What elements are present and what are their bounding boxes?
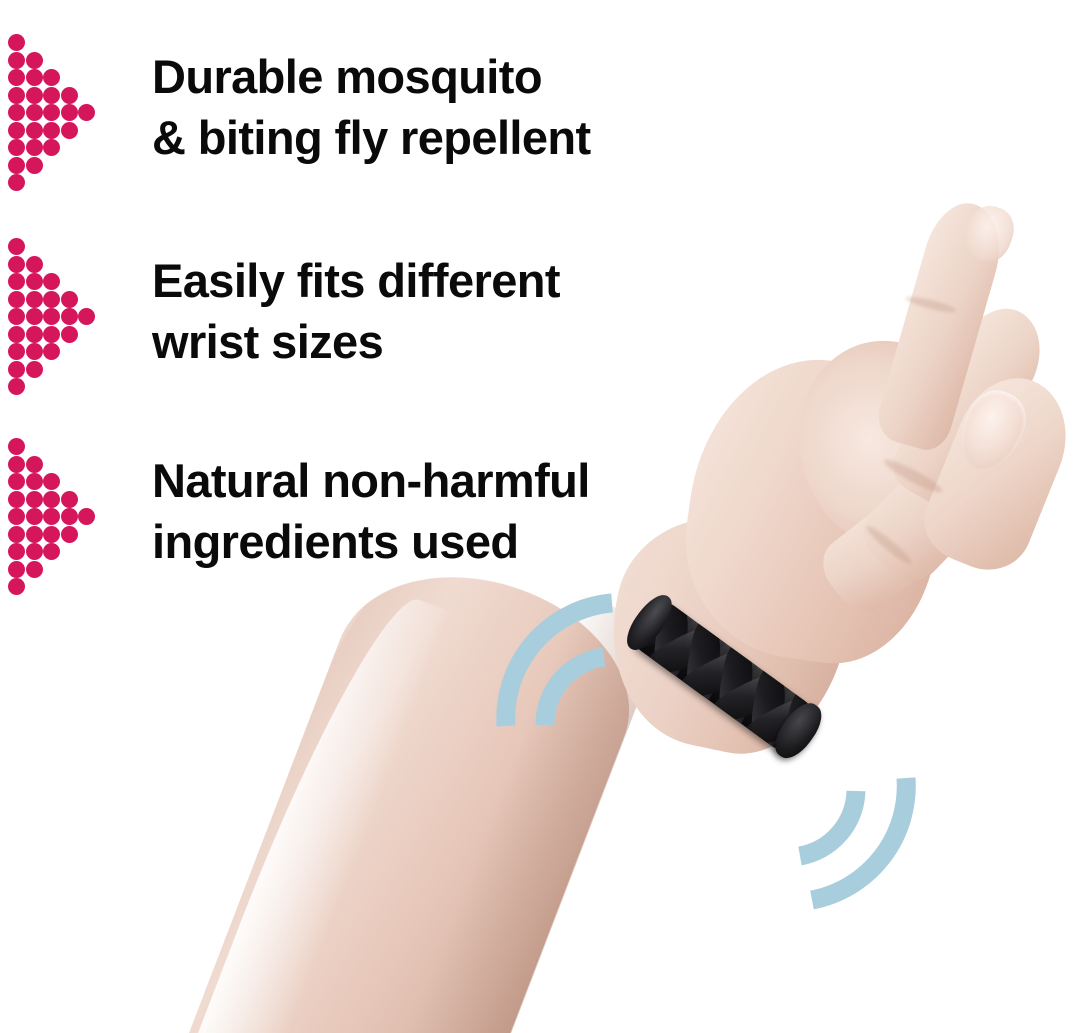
icon-dot bbox=[26, 122, 43, 139]
feature-text: Natural non-harmful ingredients used bbox=[152, 438, 590, 572]
triangle-dot-arrow-icon bbox=[8, 438, 126, 598]
icon-dot bbox=[43, 69, 60, 86]
icon-dot bbox=[61, 291, 78, 308]
icon-dot bbox=[43, 473, 60, 490]
icon-dot bbox=[8, 308, 25, 325]
feature-text: Easily fits different wrist sizes bbox=[152, 238, 560, 372]
icon-dot bbox=[8, 157, 25, 174]
icon-dot bbox=[8, 174, 25, 191]
icon-dot bbox=[26, 473, 43, 490]
icon-dot bbox=[78, 308, 95, 325]
icon-dot bbox=[43, 273, 60, 290]
icon-dot bbox=[8, 526, 25, 543]
icon-dot bbox=[43, 543, 60, 560]
feature-text: Durable mosquito & biting fly repellent bbox=[152, 34, 591, 168]
icon-dot bbox=[61, 308, 78, 325]
icon-dot bbox=[8, 561, 25, 578]
icon-dot bbox=[8, 34, 25, 51]
icon-dot bbox=[43, 508, 60, 525]
feature-item: Durable mosquito & biting fly repellent bbox=[8, 34, 591, 194]
icon-dot bbox=[43, 87, 60, 104]
icon-dot bbox=[8, 491, 25, 508]
icon-dot bbox=[61, 87, 78, 104]
icon-dot bbox=[8, 326, 25, 343]
icon-dot bbox=[43, 308, 60, 325]
icon-dot bbox=[8, 343, 25, 360]
icon-dot bbox=[26, 508, 43, 525]
icon-dot bbox=[43, 139, 60, 156]
icon-dot bbox=[61, 526, 78, 543]
icon-dot bbox=[26, 87, 43, 104]
icon-dot bbox=[61, 104, 78, 121]
icon-dot bbox=[26, 69, 43, 86]
icon-dot bbox=[26, 273, 43, 290]
triangle-dot-arrow-icon bbox=[8, 238, 126, 398]
icon-dot bbox=[8, 578, 25, 595]
icon-dot bbox=[8, 122, 25, 139]
icon-dot bbox=[8, 438, 25, 455]
icon-dot bbox=[43, 291, 60, 308]
icon-dot bbox=[26, 343, 43, 360]
icon-dot bbox=[78, 508, 95, 525]
icon-dot bbox=[26, 291, 43, 308]
icon-dot bbox=[8, 69, 25, 86]
feature-item: Easily fits different wrist sizes bbox=[8, 238, 560, 398]
icon-dot bbox=[26, 561, 43, 578]
icon-dot bbox=[61, 122, 78, 139]
icon-dot bbox=[43, 104, 60, 121]
icon-dot bbox=[61, 326, 78, 343]
icon-dot bbox=[78, 104, 95, 121]
icon-dot bbox=[8, 378, 25, 395]
icon-dot bbox=[26, 308, 43, 325]
icon-dot bbox=[8, 52, 25, 69]
icon-dot bbox=[26, 526, 43, 543]
icon-dot bbox=[26, 104, 43, 121]
icon-dot bbox=[8, 543, 25, 560]
icon-dot bbox=[8, 238, 25, 255]
infographic-canvas: Durable mosquito & biting fly repellent … bbox=[0, 0, 1080, 1033]
icon-dot bbox=[26, 491, 43, 508]
icon-dot bbox=[26, 157, 43, 174]
icon-dot bbox=[8, 361, 25, 378]
icon-dot bbox=[8, 473, 25, 490]
feature-item: Natural non-harmful ingredients used bbox=[8, 438, 590, 598]
icon-dot bbox=[43, 122, 60, 139]
triangle-dot-arrow-icon bbox=[8, 34, 126, 194]
icon-dot bbox=[43, 343, 60, 360]
icon-dot bbox=[61, 508, 78, 525]
icon-dot bbox=[26, 52, 43, 69]
icon-dot bbox=[8, 273, 25, 290]
icon-dot bbox=[43, 326, 60, 343]
icon-dot bbox=[26, 361, 43, 378]
icon-dot bbox=[26, 139, 43, 156]
icon-dot bbox=[8, 508, 25, 525]
icon-dot bbox=[26, 256, 43, 273]
forearm bbox=[158, 535, 660, 1033]
icon-dot bbox=[8, 139, 25, 156]
icon-dot bbox=[8, 291, 25, 308]
icon-dot bbox=[8, 87, 25, 104]
icon-dot bbox=[26, 543, 43, 560]
icon-dot bbox=[26, 326, 43, 343]
icon-dot bbox=[8, 256, 25, 273]
icon-dot bbox=[43, 526, 60, 543]
icon-dot bbox=[43, 491, 60, 508]
icon-dot bbox=[26, 456, 43, 473]
icon-dot bbox=[8, 456, 25, 473]
icon-dot bbox=[61, 491, 78, 508]
icon-dot bbox=[8, 104, 25, 121]
